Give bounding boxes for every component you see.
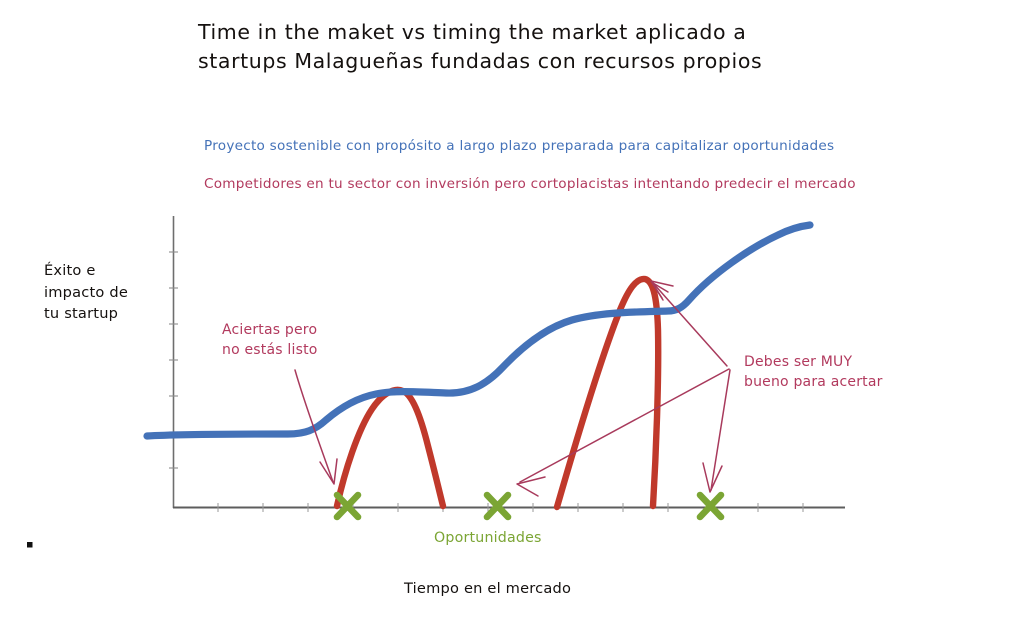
arrow-to-spike-peak [651, 281, 727, 366]
annotation-aciertas-line-1: Aciertas pero [222, 322, 317, 338]
annotation-debes-line-2: bueno para acertar [744, 374, 883, 390]
y-axis-label-line-2: impacto de [44, 284, 128, 301]
chart-canvas: Time in the maket vs timing the market a… [0, 0, 1023, 627]
y-axis-label-line-3: tu startup [44, 305, 118, 322]
x-axis-label: Tiempo en el mercado [404, 580, 571, 599]
page-title: Time in the maket vs timing the market a… [198, 18, 762, 76]
annotation-debes-ser-muy: Debes ser MUYbueno para acertar [744, 352, 883, 393]
arrow-to-mid-gap [517, 369, 729, 496]
annotation-aciertas: Aciertas perono estás listo [222, 320, 318, 361]
title-line-1: Time in the maket vs timing the market a… [198, 20, 746, 44]
arrow-to-opportunity-3 [703, 370, 730, 492]
legend-item-competitors: Competidores en tu sector con inversión … [204, 176, 856, 193]
y-axis-label: Éxito eimpacto detu startup [44, 260, 128, 325]
corner-dot [27, 542, 33, 548]
annotation-aciertas-line-2: no estás listo [222, 342, 318, 358]
opportunity-marker-2 [487, 495, 508, 517]
opportunity-markers [337, 495, 721, 517]
legend-item-sustainable: Proyecto sostenible con propósito a larg… [204, 138, 834, 155]
opportunities-label: Oportunidades [434, 529, 542, 547]
title-line-2: startups Malagueñas fundadas con recurso… [198, 49, 762, 73]
opportunity-marker-3 [700, 495, 721, 517]
annotation-debes-line-1: Debes ser MUY [744, 354, 852, 370]
y-axis-label-line-1: Éxito e [44, 262, 96, 279]
